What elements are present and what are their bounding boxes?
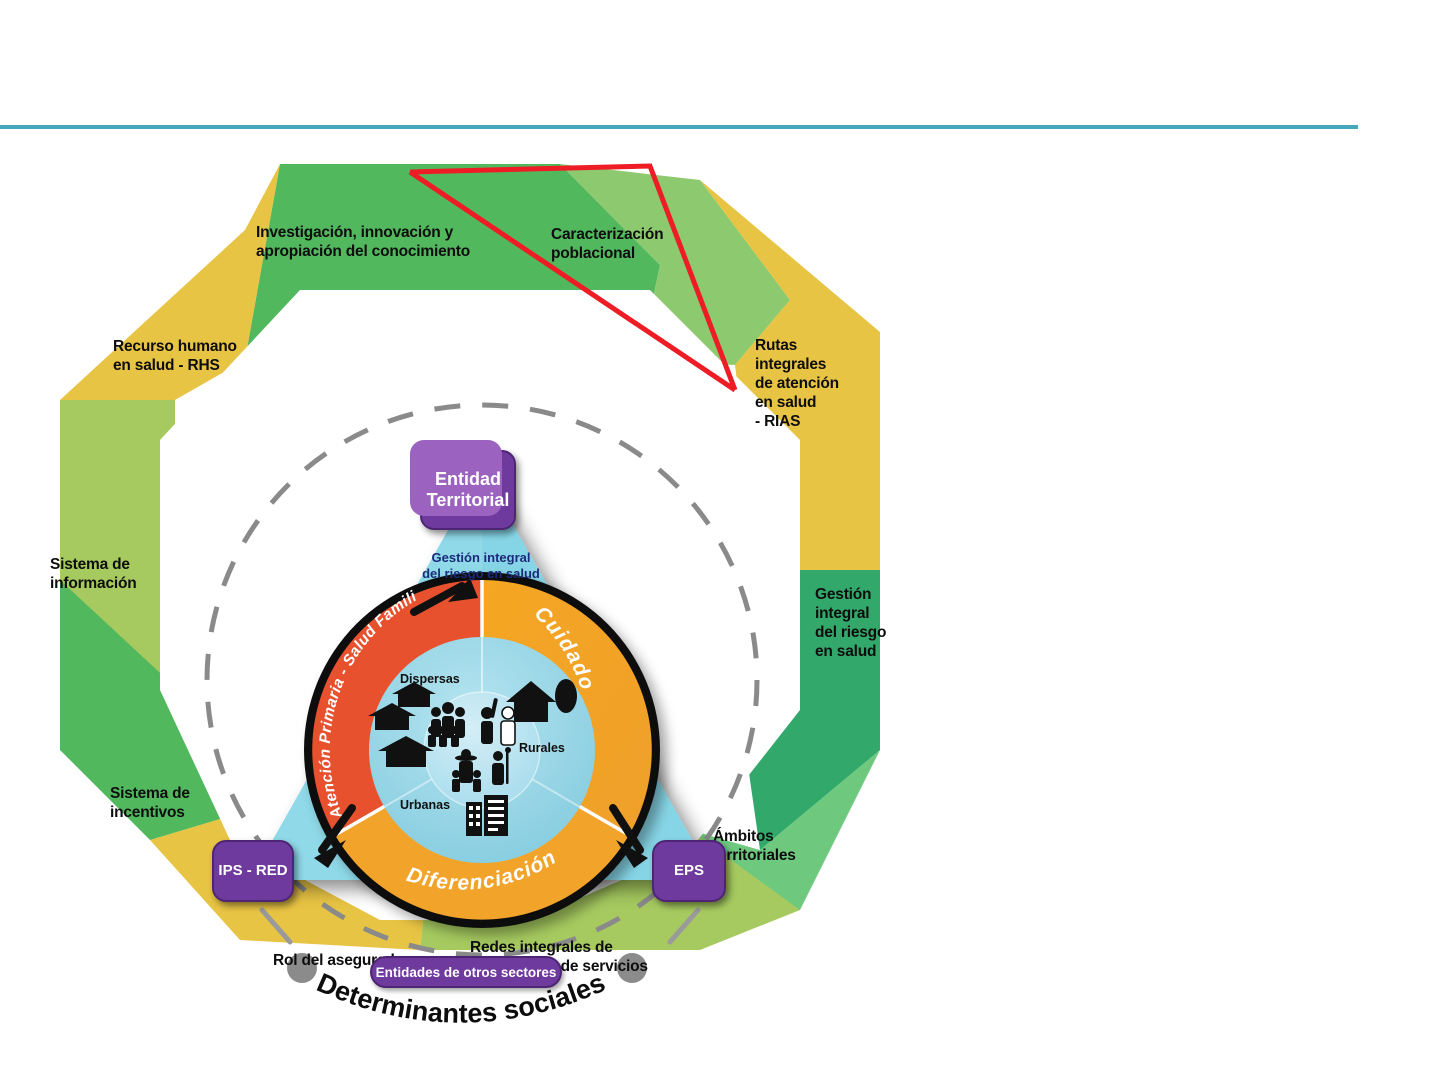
ring-label-caracterizacion: Caracterización poblacional — [551, 226, 701, 264]
node-eps[interactable]: EPS — [652, 840, 726, 902]
label-rurales: Rurales — [519, 741, 565, 755]
ring-label-sistema-incentivos: Sistema de incentivos — [110, 785, 250, 823]
label-urbanas: Urbanas — [400, 798, 450, 812]
label-dispersas: Dispersas — [400, 672, 460, 686]
ring-label-sistema-informacion: Sistema de información — [50, 556, 200, 594]
node-entidades-otros-sectores[interactable]: Entidades de otros sectores — [370, 956, 562, 988]
ring-label-investigacion: Investigación, innovación y apropiación … — [256, 224, 496, 262]
header-rule — [0, 125, 1358, 129]
slide-canvas: Atención Primaria - Salud Familiar Cuida… — [0, 0, 1440, 1080]
gestion-integral-annotation: Gestión integral del riesgo en salud — [398, 550, 564, 582]
ring-label-ambitos-territoriales: Ámbitos territoriales — [713, 828, 843, 866]
ring-label-gestion-riesgo: Gestión integral del riesgo en salud — [815, 586, 925, 662]
footer: MIAS Modelo Integral de Atención en Salu… — [0, 975, 1440, 1080]
ring-label-recurso-humano: Recurso humano en salud - RHS — [113, 338, 293, 376]
node-entidad-territorial[interactable]: Entidad Territorial — [420, 450, 516, 530]
node-ips-red[interactable]: IPS - RED — [212, 840, 294, 902]
ring-label-rias: Rutas integrales de atención en salud - … — [755, 337, 865, 432]
